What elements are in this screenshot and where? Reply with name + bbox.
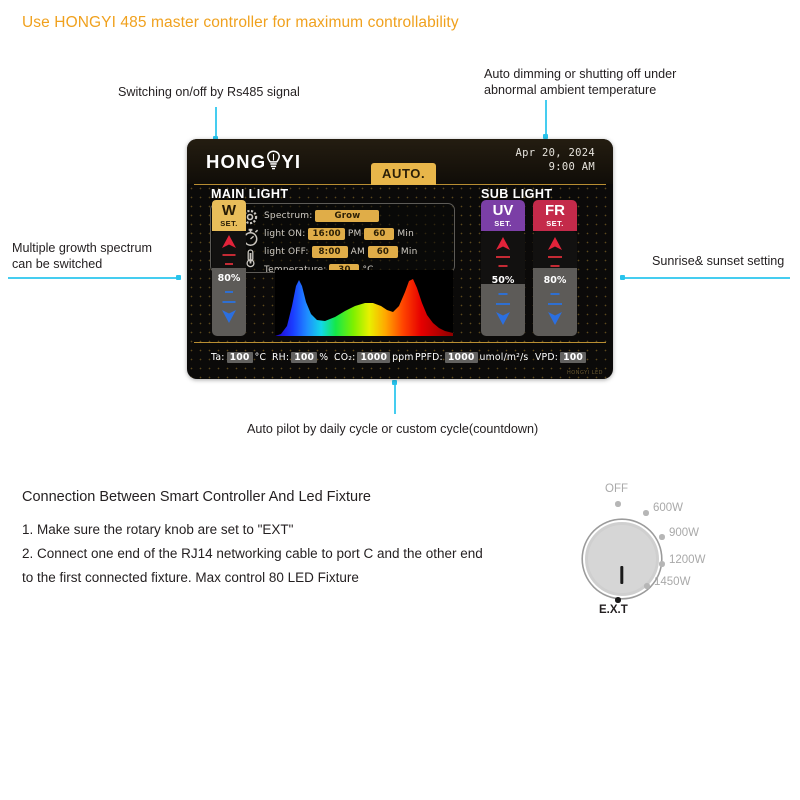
status-unit-ppfd: umol/m²/s bbox=[480, 352, 529, 363]
main-light-slider-percent: 80% bbox=[212, 273, 246, 284]
brand-logo-text-left: HONG bbox=[206, 151, 266, 173]
screen-watermark: HONGYI LED bbox=[567, 370, 603, 376]
main-light-decrease-arrow[interactable] bbox=[221, 309, 237, 328]
leader-line-sunrise bbox=[622, 277, 790, 279]
status-label-rh: RH: bbox=[272, 352, 289, 363]
setting-value-light-off-time[interactable]: 8:00 bbox=[312, 246, 348, 258]
main-light-increase-arrow[interactable] bbox=[221, 235, 237, 254]
leader-line-autopilot bbox=[394, 382, 396, 414]
status-value-vpd: 100 bbox=[560, 352, 586, 363]
instruction-item-2: 2. Connect one end of the RJ14 networkin… bbox=[22, 542, 483, 590]
sub-light-title: SUB LIGHT bbox=[481, 187, 552, 201]
setting-row-spectrum[interactable]: Spectrum:Grow bbox=[264, 210, 382, 222]
status-ta: Ta:100°C bbox=[211, 352, 266, 363]
setting-value-spectrum[interactable]: Grow bbox=[315, 210, 379, 222]
status-value-co2: 1000 bbox=[357, 352, 390, 363]
status-label-co2: CO₂: bbox=[334, 352, 355, 363]
knob-label-1450w[interactable]: 1450W bbox=[654, 576, 690, 588]
callout-switching-label: Switching on/off by Rs485 signal bbox=[118, 84, 300, 100]
leader-line-autodim bbox=[545, 100, 547, 138]
status-label-ta: Ta: bbox=[211, 352, 225, 363]
setting-label-spectrum: Spectrum: bbox=[264, 211, 312, 221]
setting-row-light-off[interactable]: light OFF:8:00AM60Min bbox=[264, 246, 418, 258]
instruction-item-1: 1. Make sure the rotary knob are set to … bbox=[22, 518, 293, 542]
knob-label-900w[interactable]: 900W bbox=[669, 527, 699, 539]
fr-tick-up-2 bbox=[551, 265, 560, 267]
setting-unit-light-on-min: Min bbox=[397, 229, 414, 239]
slider-tick-up-1 bbox=[223, 254, 236, 256]
status-value-ta: 100 bbox=[227, 352, 253, 363]
spectrum-chart bbox=[275, 270, 453, 336]
status-rh: RH:100% bbox=[272, 352, 328, 363]
rotary-knob-diagram: OFF 600W 900W 1200W 1450W E.X.T bbox=[575, 480, 790, 610]
uv-tick-dn-1 bbox=[499, 293, 508, 295]
uv-tick-dn-2 bbox=[496, 303, 510, 305]
brand-logo-text-right: YI bbox=[281, 151, 301, 173]
status-value-ppfd: 1000 bbox=[445, 352, 478, 363]
date-text: Apr 20, 2024 bbox=[516, 147, 595, 161]
knob-dot-off bbox=[615, 501, 621, 507]
knob-label-ext[interactable]: E.X.T bbox=[599, 604, 628, 616]
page-headline: Use HONGYI 485 master controller for max… bbox=[22, 14, 459, 32]
callout-sunrise-label: Sunrise& sunset setting bbox=[652, 253, 784, 269]
leader-dot-sunrise bbox=[620, 275, 625, 280]
uv-tick-up-2 bbox=[499, 265, 508, 267]
sub-chip-sub-fr: SET. bbox=[533, 219, 577, 228]
uv-slider-percent: 50% bbox=[481, 275, 525, 286]
knob-dot-1450w bbox=[644, 583, 650, 589]
setting-row-light-on[interactable]: light ON:16:00PM60Min bbox=[264, 228, 414, 240]
setting-unit-light-off-ampm: AM bbox=[351, 247, 365, 257]
knob-dot-ext bbox=[615, 597, 621, 603]
knob-dot-900w bbox=[659, 534, 665, 540]
fr-slider-percent: 80% bbox=[533, 275, 577, 286]
callout-spectrum-label: Multiple growth spectrum can be switched bbox=[12, 240, 152, 272]
fr-tick-up-1 bbox=[548, 256, 562, 258]
fr-tick-dn-1 bbox=[551, 293, 560, 295]
sub-light-channel-chip-fr[interactable]: FR SET. bbox=[533, 200, 577, 231]
status-unit-ta: °C bbox=[255, 352, 267, 363]
uv-decrease-arrow[interactable] bbox=[495, 311, 511, 330]
knob-pointer-indicator bbox=[620, 566, 623, 584]
controller-screen[interactable]: HONG YI AUTO. Apr 20, 2024 9:00 AM MAIN … bbox=[187, 139, 613, 379]
fr-increase-arrow[interactable] bbox=[547, 237, 563, 256]
leader-line-spectrum bbox=[8, 277, 180, 279]
leader-line-switching bbox=[215, 107, 217, 139]
knob-dot-1200w bbox=[659, 561, 665, 567]
datetime-display: Apr 20, 2024 9:00 AM bbox=[516, 147, 595, 174]
main-light-channel-chip-w[interactable]: W SET. bbox=[212, 200, 246, 231]
callout-autopilot-label: Auto pilot by daily cycle or custom cycl… bbox=[247, 421, 538, 437]
callout-autodim-label: Auto dimming or shutting off under abnor… bbox=[484, 66, 676, 98]
status-label-vpd: VPD: bbox=[535, 352, 558, 363]
setting-value-light-on-min[interactable]: 60 bbox=[364, 228, 394, 240]
knob-label-1200w[interactable]: 1200W bbox=[669, 554, 705, 566]
setting-label-light-off: light OFF: bbox=[264, 247, 309, 257]
setting-unit-light-on-ampm: PM bbox=[348, 229, 362, 239]
status-co2: CO₂:1000ppm bbox=[334, 352, 414, 363]
uv-slider[interactable]: 50% bbox=[481, 231, 525, 336]
fr-tick-dn-2 bbox=[548, 303, 562, 305]
sub-chip-name-uv: UV bbox=[481, 200, 525, 219]
brand-logo: HONG YI bbox=[206, 151, 301, 173]
status-bar: Ta:100°C RH:100% CO₂:1000ppm PPFD:1000um… bbox=[187, 343, 613, 379]
status-unit-rh: % bbox=[319, 352, 328, 363]
status-unit-co2: ppm bbox=[392, 352, 413, 363]
auto-mode-button[interactable]: AUTO. bbox=[371, 163, 436, 185]
slider-tick-up-2 bbox=[225, 263, 233, 265]
status-label-ppfd: PPFD: bbox=[415, 352, 443, 363]
uv-tick-up-1 bbox=[496, 256, 510, 258]
main-light-slider[interactable]: 80% bbox=[212, 231, 246, 336]
setting-value-light-on-time[interactable]: 16:00 bbox=[308, 228, 344, 240]
instructions-title: Connection Between Smart Controller And … bbox=[22, 489, 371, 505]
sub-light-channel-chip-uv[interactable]: UV SET. bbox=[481, 200, 525, 231]
leader-dot-spectrum bbox=[176, 275, 181, 280]
sub-chip-name-fr: FR bbox=[533, 200, 577, 219]
knob-label-off[interactable]: OFF bbox=[605, 483, 628, 495]
bulb-icon bbox=[266, 150, 281, 170]
status-ppfd: PPFD:1000umol/m²/s bbox=[415, 352, 528, 363]
fr-decrease-arrow[interactable] bbox=[547, 311, 563, 330]
status-value-rh: 100 bbox=[291, 352, 317, 363]
slider-tick-dn-2 bbox=[223, 301, 236, 303]
status-vpd: VPD:100 bbox=[535, 352, 588, 363]
setting-label-light-on: light ON: bbox=[264, 229, 305, 239]
setting-value-light-off-min[interactable]: 60 bbox=[368, 246, 398, 258]
leader-dot-autopilot bbox=[392, 380, 397, 385]
sub-chip-sub-uv: SET. bbox=[481, 219, 525, 228]
fr-slider[interactable]: 80% bbox=[533, 231, 577, 336]
slider-tick-dn-1 bbox=[225, 291, 233, 293]
setting-unit-light-off-min: Min bbox=[401, 247, 418, 257]
channel-chip-name: W bbox=[212, 200, 246, 219]
time-text: 9:00 AM bbox=[516, 161, 595, 175]
knob-label-600w[interactable]: 600W bbox=[653, 502, 683, 514]
main-light-title: MAIN LIGHT bbox=[211, 187, 288, 201]
knob-dot-600w bbox=[643, 510, 649, 516]
uv-increase-arrow[interactable] bbox=[495, 237, 511, 256]
channel-chip-sub: SET. bbox=[212, 219, 246, 228]
